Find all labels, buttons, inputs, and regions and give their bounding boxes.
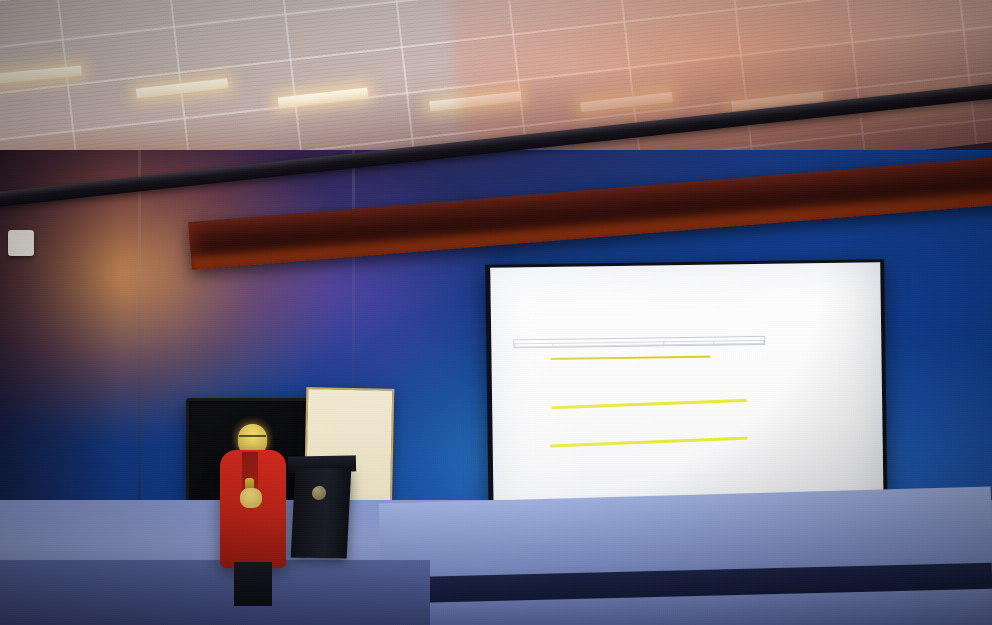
- slide-title: [504, 274, 866, 279]
- lectern-emblem: [312, 486, 327, 500]
- projection-screen: [490, 262, 884, 521]
- presenter-glasses: [239, 435, 266, 443]
- auditorium-photo: [0, 0, 992, 625]
- score-line-table-wrap: [513, 336, 765, 349]
- col-header-tongzhao: [664, 341, 714, 345]
- table-highlight-line-2: [550, 437, 748, 447]
- col-header-school: [553, 342, 664, 347]
- presenter-hands: [240, 488, 262, 508]
- table-highlight-box: [550, 356, 710, 360]
- projection-screen-frame: [485, 259, 888, 528]
- seated-audience: [0, 520, 992, 625]
- slide-subtitle: [505, 288, 867, 293]
- col-header-rank: [515, 343, 553, 347]
- wall-mounted-box: [8, 230, 34, 256]
- banner-text: [190, 242, 252, 247]
- table-highlight-line-1: [551, 399, 747, 409]
- presentation-slide: [490, 262, 884, 521]
- col-header-tiaozhao: [714, 340, 764, 344]
